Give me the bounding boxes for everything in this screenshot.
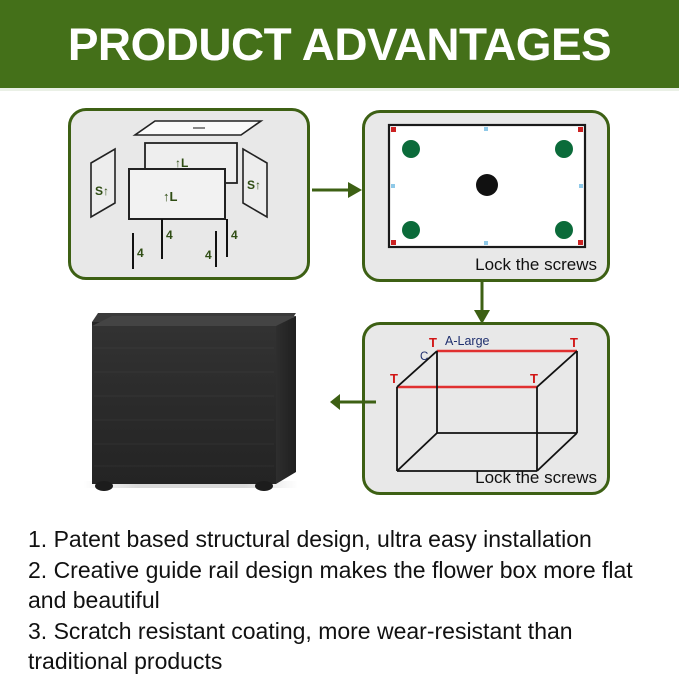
planter-front-face (92, 326, 276, 484)
edge-pin-top (484, 127, 488, 131)
advantage-item-3: 3. Scratch resistant coating, more wear-… (28, 616, 668, 677)
label-rail-3: 4 (205, 248, 212, 262)
label-side-panel-right: S↑ (247, 178, 261, 192)
wireframe-box-drawing: T T T T A-Large C (365, 325, 607, 492)
edge-pin-right (579, 184, 583, 188)
panel-lock-screws-top: Lock the screws (362, 110, 610, 282)
planter-top-edge (92, 316, 296, 326)
label-rail-1: 4 (137, 246, 144, 260)
advantage-item-2: 2. Creative guide rail design makes the … (28, 555, 668, 616)
label-rail-2: 4 (166, 228, 173, 242)
marker-t-back-right: T (570, 335, 578, 350)
corner-pin-top-right (578, 127, 583, 132)
corner-pin-top-left (391, 127, 396, 132)
exploded-assembly-drawing: ↑L ↑L S↑ S↑ 4 4 4 4 (71, 111, 307, 277)
side-panel-left (91, 149, 115, 217)
edge-pin-left (391, 184, 395, 188)
panel-exploded-assembly: ↑L ↑L S↑ S↑ 4 4 4 4 (68, 108, 310, 280)
corner-pin-bottom-left (391, 240, 396, 245)
black-planter-box-photo (60, 300, 330, 512)
label-side-panel-left: S↑ (95, 184, 109, 198)
planter-foot-left (95, 481, 113, 491)
corner-pin-bottom-right (578, 240, 583, 245)
marker-t-front-right: T (530, 371, 538, 386)
edge-pin-bottom (484, 241, 488, 245)
arrow-screws-to-wire (470, 282, 494, 324)
marker-t-front-left: T (390, 371, 398, 386)
advantage-item-1: 1. Patent based structural design, ultra… (28, 524, 668, 555)
header-divider (0, 88, 679, 91)
caption-lock-screws-top: Lock the screws (475, 255, 597, 275)
corner-screw-top-right (555, 140, 573, 158)
corner-screw-top-left (402, 140, 420, 158)
label-rail-4: 4 (231, 228, 238, 242)
product-advantages-infographic: PRODUCT ADVANTAGES ↑L ↑L S↑ S↑ 4 (0, 0, 679, 670)
product-photo-container (60, 300, 330, 512)
planter-side-face (276, 316, 296, 484)
page-title: PRODUCT ADVANTAGES (0, 0, 679, 88)
center-hub (476, 174, 498, 196)
marker-t-back-left: T (429, 335, 437, 350)
arrow-explode-to-screws (312, 178, 362, 202)
arrow-wire-to-product (330, 390, 376, 414)
bottom-edge-right (537, 433, 577, 471)
corner-screw-bottom-right (555, 221, 573, 239)
label-long-panel-back: ↑L (175, 156, 188, 170)
bottom-edge-left (397, 433, 437, 471)
label-a-large: A-Large (445, 334, 490, 348)
advantages-list: 1. Patent based structural design, ultra… (28, 524, 668, 677)
top-edge-left (397, 351, 437, 387)
label-long-panel-front: ↑L (163, 189, 178, 204)
label-c: C (420, 351, 428, 363)
caption-lock-screws-bottom: Lock the screws (475, 468, 597, 488)
planter-foot-right (255, 481, 273, 491)
header-banner: PRODUCT ADVANTAGES (0, 0, 679, 88)
corner-screw-bottom-left (402, 221, 420, 239)
top-edge-right (537, 351, 577, 387)
panel-lock-screws-bottom: T T T T A-Large C Lock the screws (362, 322, 610, 495)
